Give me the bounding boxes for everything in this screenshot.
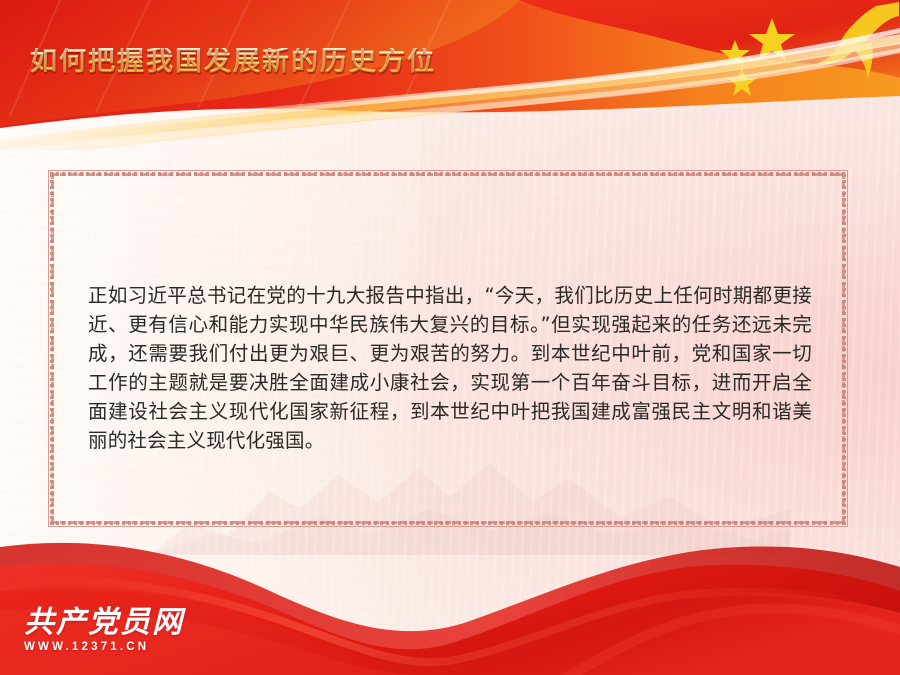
slide-canvas: 如何把握我国发展新的历史方位 如何把握我国发展新的历史方位 正如习近平总书记在党… [0,0,900,675]
body-paragraph: 正如习近平总书记在党的十九大报告中指出，“今天，我们比历史上任何时期都更接近、更… [88,281,812,455]
site-logo[interactable]: 共产党员网 WWW.12371.CN [24,607,214,654]
site-logo-text: 共产党员网 [24,607,214,639]
page-title: 如何把握我国发展新的历史方位 [30,48,436,75]
site-logo-url: WWW.12371.CN [24,641,214,653]
header-banner: 如何把握我国发展新的历史方位 如何把握我国发展新的历史方位 [0,0,900,150]
